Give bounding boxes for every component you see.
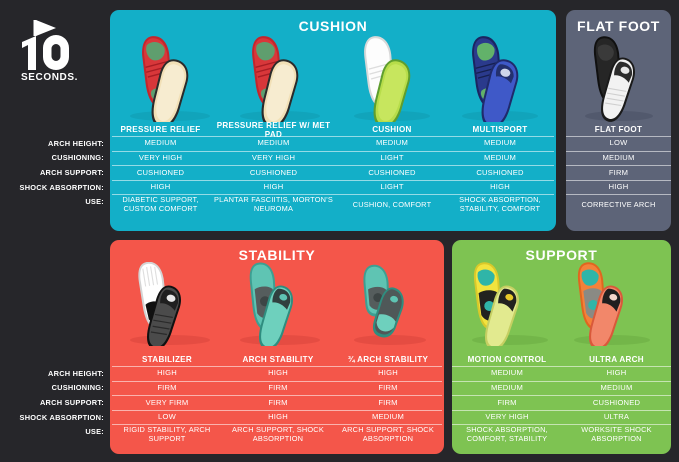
cell-arch-support: FIRM [222, 395, 334, 410]
cell-arch-support: FIRM [334, 395, 442, 410]
row-label-use: USE: [0, 194, 104, 217]
column-header: PRESSURE RELIEF [112, 124, 209, 136]
row-label-arch-height: ARCH HEIGHT: [0, 136, 104, 151]
panel-title-stability: STABILITY [110, 240, 444, 262]
row-labels-top: ARCH HEIGHT: CUSHIONING: ARCH SUPPORT: S… [0, 136, 104, 217]
row-label-use: USE: [0, 424, 104, 447]
cell-arch-support: CUSHIONED [562, 395, 671, 410]
cell-use: DIABETIC SUPPORT, CUSTOM COMFORT [112, 194, 209, 214]
row-label-arch-height: ARCH HEIGHT: [0, 366, 104, 381]
cell-arch-height: MEDIUM [209, 136, 338, 151]
cell-arch-support: CUSHIONED [446, 165, 554, 180]
cell-arch-height: MEDIUM [338, 136, 446, 151]
cell-shock-absorption: VERY HIGH [452, 410, 562, 425]
cell-arch-support: VERY FIRM [112, 395, 222, 410]
cell-shock-absorption: HIGH [446, 180, 554, 195]
table-column-stabilizer: STABILIZER HIGH FIRM VERY FIRM LOW RIGID… [112, 354, 222, 444]
table-column-motion-control: MOTION CONTROL MEDIUM MEDIUM FIRM VERY H… [452, 354, 562, 444]
insole-comparison-chart: SECONDS. CUSHION [0, 0, 679, 462]
insole-image-stabilizer [118, 262, 222, 346]
table-column-flat-foot: FLAT FOOT LOW MEDIUM FIRM HIGH CORRECTIV… [566, 124, 671, 214]
cell-shock-absorption: MEDIUM [334, 410, 442, 425]
insole-image-pressure-relief-met-pad [228, 34, 332, 122]
cell-shock-absorption: HIGH [566, 180, 671, 195]
cell-arch-height: MEDIUM [112, 136, 209, 151]
cell-arch-height: HIGH [112, 366, 222, 381]
table-flat-foot: FLAT FOOT LOW MEDIUM FIRM HIGH CORRECTIV… [566, 124, 671, 214]
panel-title-support: SUPPORT [452, 240, 671, 262]
table-column-multisport: MULTISPORT MEDIUM MEDIUM CUSHIONED HIGH … [446, 124, 554, 214]
cell-arch-support: FIRM [566, 165, 671, 180]
cell-arch-support: CUSHIONED [338, 165, 446, 180]
insole-image-arch-stability [228, 262, 332, 346]
cell-cushioning: FIRM [222, 381, 334, 396]
svg-text:SECONDS.: SECONDS. [21, 72, 78, 83]
insole-image-three-quarter-arch-stability [340, 262, 440, 346]
cell-arch-height: HIGH [562, 366, 671, 381]
row-label-cushioning: CUSHIONING: [0, 381, 104, 396]
insole-image-flat-foot [574, 34, 664, 122]
cell-use: CORRECTIVE ARCH [566, 194, 671, 214]
cell-use: CUSHION, COMFORT [338, 194, 446, 214]
column-header: ULTRA ARCH [562, 354, 671, 366]
cell-use: SHOCK ABSORPTION, STABILITY, COMFORT [446, 194, 554, 214]
table-column-pressure-relief-met-pad: PRESSURE RELIEF W/ MET PAD MEDIUM VERY H… [209, 124, 338, 214]
cell-shock-absorption: LOW [112, 410, 222, 425]
table-support: MOTION CONTROL MEDIUM MEDIUM FIRM VERY H… [452, 354, 671, 444]
insole-image-pressure-relief [118, 34, 222, 122]
table-column-cushion: CUSHION MEDIUM LIGHT CUSHIONED LIGHT CUS… [338, 124, 446, 214]
table-column-pressure-relief: PRESSURE RELIEF MEDIUM VERY HIGH CUSHION… [112, 124, 209, 214]
insole-image-cushion [342, 34, 442, 122]
cell-cushioning: LIGHT [338, 151, 446, 166]
cell-use: ARCH SUPPORT, SHOCK ABSORPTION [334, 424, 442, 444]
cell-use: PLANTAR FASCIITIS, MORTON'S NEUROMA [209, 194, 338, 214]
table-column-arch-stability: ARCH STABILITY HIGH FIRM FIRM HIGH ARCH … [222, 354, 334, 444]
column-header: MULTISPORT [446, 124, 554, 136]
insole-image-motion-control [458, 262, 562, 346]
row-labels-bottom: ARCH HEIGHT: CUSHIONING: ARCH SUPPORT: S… [0, 366, 104, 447]
table-stability: STABILIZER HIGH FIRM VERY FIRM LOW RIGID… [112, 354, 442, 444]
row-label-shock-absorption: SHOCK ABSORPTION: [0, 180, 104, 195]
column-header: STABILIZER [112, 354, 222, 366]
column-header: ARCH STABILITY [222, 354, 334, 366]
cell-shock-absorption: HIGH [112, 180, 209, 195]
cell-arch-height: MEDIUM [452, 366, 562, 381]
column-header: MOTION CONTROL [452, 354, 562, 366]
row-label-cushioning: CUSHIONING: [0, 151, 104, 166]
column-header: ¾ ARCH STABILITY [334, 354, 442, 366]
ten-seconds-logo-icon: SECONDS. [10, 18, 88, 84]
table-column-ultra-arch: ULTRA ARCH HIGH MEDIUM CUSHIONED ULTRA W… [562, 354, 671, 444]
row-label-arch-support: ARCH SUPPORT: [0, 165, 104, 180]
cell-use: RIGID STABILITY, ARCH SUPPORT [112, 424, 222, 444]
column-header: FLAT FOOT [566, 124, 671, 136]
cell-cushioning: VERY HIGH [112, 151, 209, 166]
cell-cushioning: MEDIUM [452, 381, 562, 396]
cell-use: WORKSITE SHOCK ABSORPTION [562, 424, 671, 444]
table-column-three-quarter-arch-stability: ¾ ARCH STABILITY HIGH FIRM FIRM MEDIUM A… [334, 354, 442, 444]
column-header: PRESSURE RELIEF W/ MET PAD [209, 124, 338, 136]
cell-arch-height: HIGH [334, 366, 442, 381]
cell-shock-absorption: HIGH [222, 410, 334, 425]
cell-use: SHOCK ABSORPTION, COMFORT, STABILITY [452, 424, 562, 444]
cell-arch-height: LOW [566, 136, 671, 151]
cell-cushioning: MEDIUM [562, 381, 671, 396]
cell-cushioning: FIRM [112, 381, 222, 396]
cell-cushioning: MEDIUM [446, 151, 554, 166]
row-label-shock-absorption: SHOCK ABSORPTION: [0, 410, 104, 425]
cell-cushioning: VERY HIGH [209, 151, 338, 166]
panel-title-flat-foot: FLAT FOOT [566, 10, 671, 33]
cell-shock-absorption: ULTRA [562, 410, 671, 425]
cell-cushioning: FIRM [334, 381, 442, 396]
cell-cushioning: MEDIUM [566, 151, 671, 166]
cell-arch-support: FIRM [452, 395, 562, 410]
cell-arch-support: CUSHIONED [209, 165, 338, 180]
cell-shock-absorption: LIGHT [338, 180, 446, 195]
panel-title-cushion: CUSHION [110, 10, 556, 33]
insole-image-multisport [450, 34, 550, 122]
cell-arch-height: MEDIUM [446, 136, 554, 151]
cell-shock-absorption: HIGH [209, 180, 338, 195]
cell-use: ARCH SUPPORT, SHOCK ABSORPTION [222, 424, 334, 444]
row-label-arch-support: ARCH SUPPORT: [0, 395, 104, 410]
insole-image-ultra-arch [560, 262, 664, 346]
cell-arch-support: CUSHIONED [112, 165, 209, 180]
brand-logo: SECONDS. [10, 18, 88, 84]
column-header: CUSHION [338, 124, 446, 136]
table-cushion: PRESSURE RELIEF MEDIUM VERY HIGH CUSHION… [112, 124, 554, 214]
cell-arch-height: HIGH [222, 366, 334, 381]
